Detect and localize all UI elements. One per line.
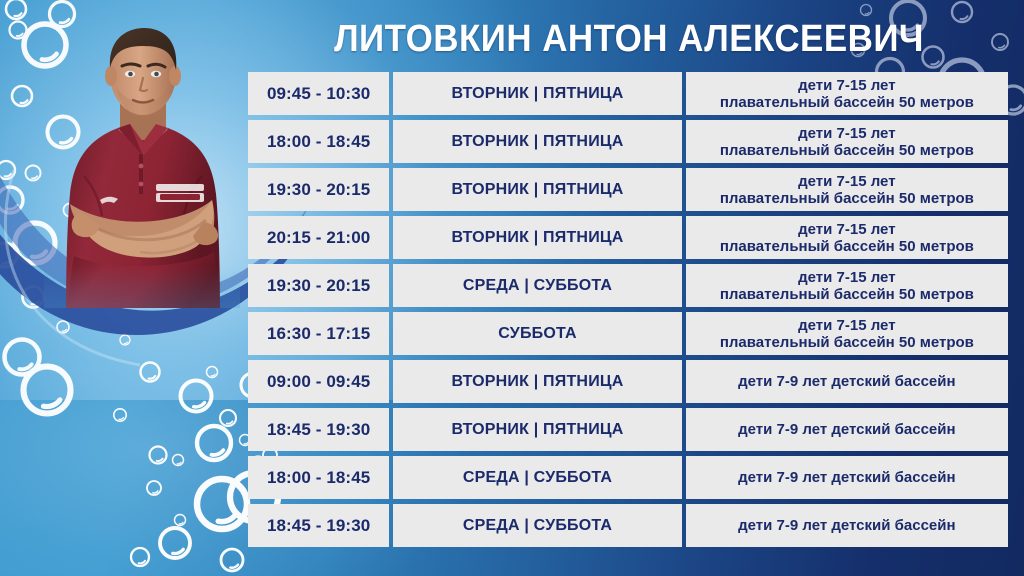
cell-days: СРЕДА | СУББОТА — [393, 456, 681, 499]
cell-days: СРЕДА | СУББОТА — [393, 264, 681, 307]
cell-group: дети 7-15 лет плавательный бассейн 50 ме… — [686, 312, 1008, 355]
cell-time: 18:45 - 19:30 — [248, 504, 389, 547]
cell-group: дети 7-15 лет плавательный бассейн 50 ме… — [686, 168, 1008, 211]
cell-group-line1: дети 7-15 лет — [720, 77, 974, 94]
table-row[interactable]: 18:45 - 19:30 СРЕДА | СУББОТА дети 7-9 л… — [248, 504, 1008, 547]
cell-time: 20:15 - 21:00 — [248, 216, 389, 259]
cell-days: ВТОРНИК | ПЯТНИЦА — [393, 408, 681, 451]
cell-group-line1: дети 7-9 лет детский бассейн — [738, 517, 955, 534]
cell-time: 09:45 - 10:30 — [248, 72, 389, 115]
table-row[interactable]: 18:00 - 18:45 СРЕДА | СУББОТА дети 7-9 л… — [248, 456, 1008, 499]
table-row[interactable]: 18:45 - 19:30 ВТОРНИК | ПЯТНИЦА дети 7-9… — [248, 408, 1008, 451]
cell-group-line1: дети 7-15 лет — [720, 221, 974, 238]
coach-photo — [44, 8, 240, 308]
cell-group: дети 7-15 лет плавательный бассейн 50 ме… — [686, 72, 1008, 115]
cell-time: 19:30 - 20:15 — [248, 264, 389, 307]
shirt-logo — [156, 184, 204, 202]
cell-days: ВТОРНИК | ПЯТНИЦА — [393, 216, 681, 259]
table-row[interactable]: 20:15 - 21:00 ВТОРНИК | ПЯТНИЦА дети 7-1… — [248, 216, 1008, 259]
cell-group-line2: плавательный бассейн 50 метров — [720, 190, 974, 207]
cell-group: дети 7-9 лет детский бассейн — [686, 360, 1008, 403]
page-title: ЛИТОВКИН АНТОН АЛЕКСЕЕВИЧ — [275, 16, 983, 64]
cell-days: ВТОРНИК | ПЯТНИЦА — [393, 120, 681, 163]
cell-group-line2: плавательный бассейн 50 метров — [720, 142, 974, 159]
cell-group-line2: плавательный бассейн 50 метров — [720, 286, 974, 303]
cell-days: ВТОРНИК | ПЯТНИЦА — [393, 168, 681, 211]
cell-time: 18:00 - 18:45 — [248, 120, 389, 163]
cell-group: дети 7-15 лет плавательный бассейн 50 ме… — [686, 264, 1008, 307]
cell-time: 18:45 - 19:30 — [248, 408, 389, 451]
table-row[interactable]: 19:30 - 20:15 ВТОРНИК | ПЯТНИЦА дети 7-1… — [248, 168, 1008, 211]
cell-time: 16:30 - 17:15 — [248, 312, 389, 355]
cell-group-line1: дети 7-9 лет детский бассейн — [738, 373, 955, 390]
table-row[interactable]: 09:45 - 10:30 ВТОРНИК | ПЯТНИЦА дети 7-1… — [248, 72, 1008, 115]
cell-days: СРЕДА | СУББОТА — [393, 504, 681, 547]
cell-group: дети 7-9 лет детский бассейн — [686, 504, 1008, 547]
table-row[interactable]: 16:30 - 17:15 СУББОТА дети 7-15 лет плав… — [248, 312, 1008, 355]
table-row[interactable]: 18:00 - 18:45 ВТОРНИК | ПЯТНИЦА дети 7-1… — [248, 120, 1008, 163]
cell-group: дети 7-9 лет детский бассейн — [686, 408, 1008, 451]
cell-group-line1: дети 7-9 лет детский бассейн — [738, 469, 955, 486]
cell-group-line1: дети 7-15 лет — [720, 269, 974, 286]
cell-time: 09:00 - 09:45 — [248, 360, 389, 403]
cell-group-line2: плавательный бассейн 50 метров — [720, 94, 974, 111]
schedule-table: 09:45 - 10:30 ВТОРНИК | ПЯТНИЦА дети 7-1… — [248, 72, 1008, 552]
cell-time: 18:00 - 18:45 — [248, 456, 389, 499]
table-row[interactable]: 19:30 - 20:15 СРЕДА | СУББОТА дети 7-15 … — [248, 264, 1008, 307]
cell-group: дети 7-9 лет детский бассейн — [686, 456, 1008, 499]
cell-group: дети 7-15 лет плавательный бассейн 50 ме… — [686, 216, 1008, 259]
poster-root: ЛИТОВКИН АНТОН АЛЕКСЕЕВИЧ 09:45 - 10:30 … — [0, 0, 1024, 576]
cell-group-line1: дети 7-15 лет — [720, 125, 974, 142]
cell-group-line1: дети 7-15 лет — [720, 173, 974, 190]
cell-days: СУББОТА — [393, 312, 681, 355]
cell-days: ВТОРНИК | ПЯТНИЦА — [393, 72, 681, 115]
cell-time: 19:30 - 20:15 — [248, 168, 389, 211]
cell-days: ВТОРНИК | ПЯТНИЦА — [393, 360, 681, 403]
table-row[interactable]: 09:00 - 09:45 ВТОРНИК | ПЯТНИЦА дети 7-9… — [248, 360, 1008, 403]
cell-group-line2: плавательный бассейн 50 метров — [720, 334, 974, 351]
cell-group-line1: дети 7-15 лет — [720, 317, 974, 334]
cell-group-line2: плавательный бассейн 50 метров — [720, 238, 974, 255]
cell-group: дети 7-15 лет плавательный бассейн 50 ме… — [686, 120, 1008, 163]
cell-group-line1: дети 7-9 лет детский бассейн — [738, 421, 955, 438]
